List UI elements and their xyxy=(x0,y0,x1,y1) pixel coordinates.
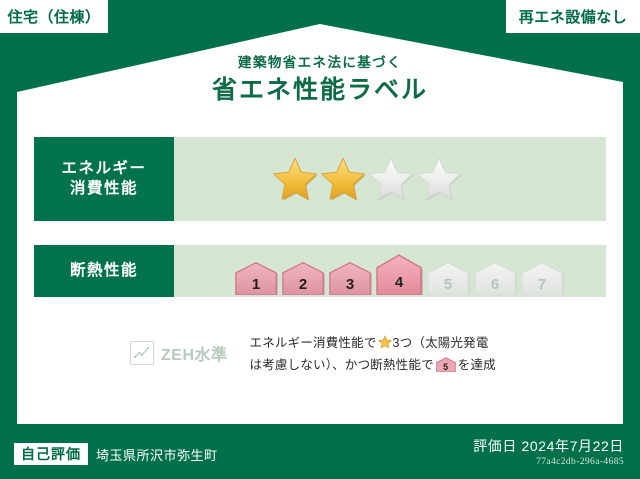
insulation-grade-value: 1 xyxy=(234,277,278,292)
property-address: 埼玉県所沢市弥生町 xyxy=(96,445,218,464)
inline-insulation-badge: 5 xyxy=(436,357,456,372)
insulation-grade-badge: 2 xyxy=(281,261,325,295)
insulation-grade-badge: 1 xyxy=(234,261,278,295)
energy-performance-row: エネルギー 消費性能 xyxy=(34,137,606,221)
desc-line2-text-b: を達成 xyxy=(458,358,496,372)
insulation-performance-row: 断熱性能 1234567 xyxy=(34,245,606,297)
energy-performance-label-box: エネルギー 消費性能 xyxy=(34,137,174,221)
zeh-standard-label: ZEH水準 xyxy=(161,341,228,365)
desc-line2-text-a: は考慮しない）、かつ断熱性能で xyxy=(250,358,434,372)
insulation-grade-badge: 5 xyxy=(426,261,470,295)
star-rating xyxy=(272,156,462,202)
page-title: 省エネ性能ラベル xyxy=(0,78,640,103)
insulation-grade-badge: 3 xyxy=(328,261,372,295)
desc-line1-text-b: 3つ（太陽光発電 xyxy=(393,336,489,350)
insulation-grade-badge: 4 xyxy=(375,253,423,295)
star-icon xyxy=(378,335,392,349)
self-evaluation-badge: 自己評価 xyxy=(14,443,88,465)
chart-line-icon xyxy=(130,341,154,365)
achievement-description: エネルギー消費性能で3つ（太陽光発電 は考慮しない）、かつ断熱性能で5を達成 xyxy=(250,333,496,377)
inline-insulation-badge-value: 5 xyxy=(436,363,456,372)
energy-performance-label-line1: エネルギー xyxy=(61,159,146,179)
footer-left: 自己評価 埼玉県所沢市弥生町 xyxy=(14,443,218,465)
insulation-grade-value: 2 xyxy=(281,277,325,292)
desc-line1-text-a: エネルギー消費性能で xyxy=(250,336,377,350)
footer-right: 評価日 2024年7月22日 77a4c2db-296a-4685 xyxy=(473,437,624,467)
building-type-tag-label: 住宅（住棟） xyxy=(7,6,100,27)
achievement-description-line2: は考慮しない）、かつ断熱性能で5を達成 xyxy=(250,355,496,377)
label-subtitle: 建築物省エネ法に基づく xyxy=(0,56,640,70)
insulation-performance-content: 1234567 xyxy=(174,245,606,297)
insulation-grade-value: 6 xyxy=(473,277,517,292)
evaluation-id: 77a4c2db-296a-4685 xyxy=(473,457,624,467)
insulation-grade-badge: 7 xyxy=(520,261,564,295)
insulation-performance-label-box: 断熱性能 xyxy=(34,245,174,297)
zeh-standard-block: ZEH水準 xyxy=(130,341,228,365)
zeh-note-area: ZEH水準 エネルギー消費性能で3つ（太陽光発電 は考慮しない）、かつ断熱性能で… xyxy=(34,333,606,377)
insulation-grade-value: 7 xyxy=(520,277,564,292)
insulation-grade-badge: 6 xyxy=(473,261,517,295)
achievement-description-line1: エネルギー消費性能で3つ（太陽光発電 xyxy=(250,333,496,355)
star-filled-icon xyxy=(272,156,318,202)
energy-performance-label-line2: 消費性能 xyxy=(70,179,138,199)
star-empty-icon xyxy=(416,156,462,202)
insulation-grade-value: 5 xyxy=(426,277,470,292)
energy-performance-label: 住宅（住棟） 再エネ設備なし 建築物省エネ法に基づく 省エネ性能ラベル エネルギ… xyxy=(0,0,640,479)
label-title-block: 建築物省エネ法に基づく 省エネ性能ラベル xyxy=(0,56,640,103)
insulation-grade-value: 3 xyxy=(328,277,372,292)
star-filled-icon xyxy=(320,156,366,202)
building-type-tag: 住宅（住棟） xyxy=(0,0,108,33)
insulation-performance-label-line1: 断熱性能 xyxy=(70,261,138,281)
insulation-grade-scale: 1234567 xyxy=(234,243,564,299)
energy-performance-content xyxy=(174,137,606,221)
insulation-grade-value: 4 xyxy=(375,275,423,290)
evaluation-date: 評価日 2024年7月22日 xyxy=(473,437,624,455)
renewable-energy-tag-label: 再エネ設備なし xyxy=(519,6,628,27)
renewable-energy-tag: 再エネ設備なし xyxy=(506,0,640,33)
star-empty-icon xyxy=(368,156,414,202)
